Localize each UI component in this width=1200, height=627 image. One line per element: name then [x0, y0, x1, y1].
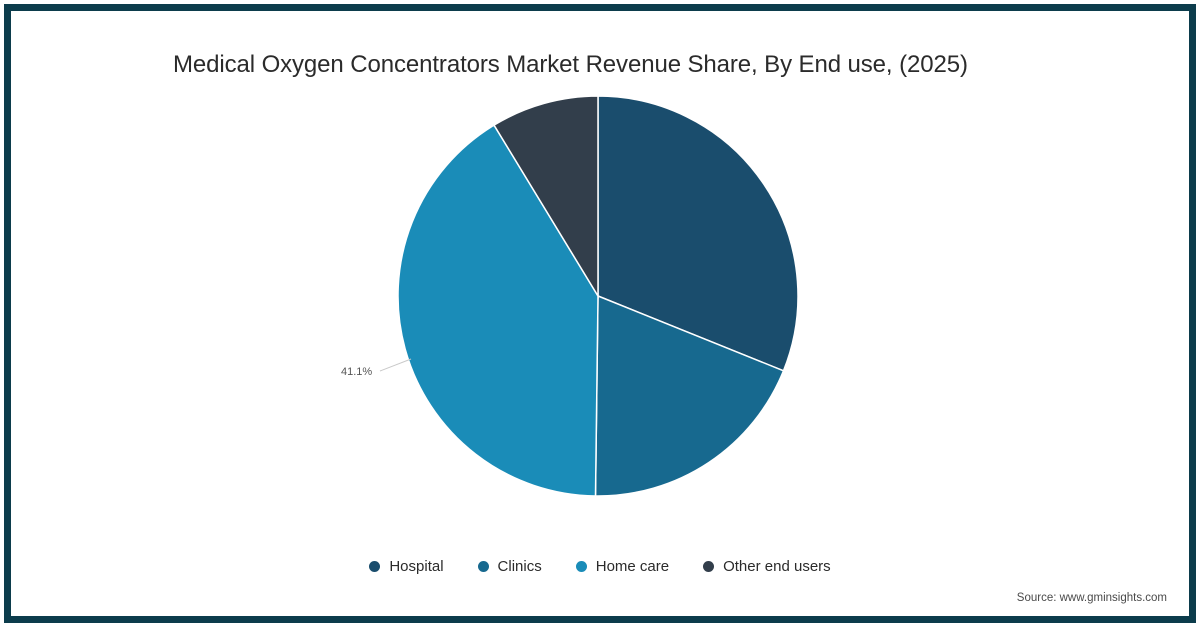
legend-swatch-icon: [576, 561, 587, 572]
pie-slice-label-home-care: 41.1%: [341, 366, 372, 378]
chart-canvas: Medical Oxygen Concentrators Market Reve…: [11, 11, 1189, 616]
leader-line: [380, 359, 411, 371]
legend-item-label: Home care: [596, 558, 669, 575]
legend-item-label: Other end users: [723, 558, 831, 575]
pie-chart: 41.1%: [11, 11, 1189, 551]
pie-chart-svg: [11, 11, 1189, 551]
legend-swatch-icon: [369, 561, 380, 572]
legend-item-label: Clinics: [498, 558, 542, 575]
pie-slice-group: [398, 96, 798, 496]
legend-swatch-icon: [478, 561, 489, 572]
legend-item-home-care[interactable]: Home care: [576, 558, 669, 575]
legend-swatch-icon: [703, 561, 714, 572]
legend-item-hospital[interactable]: Hospital: [369, 558, 443, 575]
source-attribution: Source: www.gminsights.com: [1017, 592, 1167, 604]
chart-page: Medical Oxygen Concentrators Market Reve…: [0, 0, 1200, 627]
chart-legend: HospitalClinicsHome careOther end users: [11, 558, 1189, 575]
legend-item-label: Hospital: [389, 558, 443, 575]
legend-item-clinics[interactable]: Clinics: [478, 558, 542, 575]
legend-item-other-end-users[interactable]: Other end users: [703, 558, 831, 575]
